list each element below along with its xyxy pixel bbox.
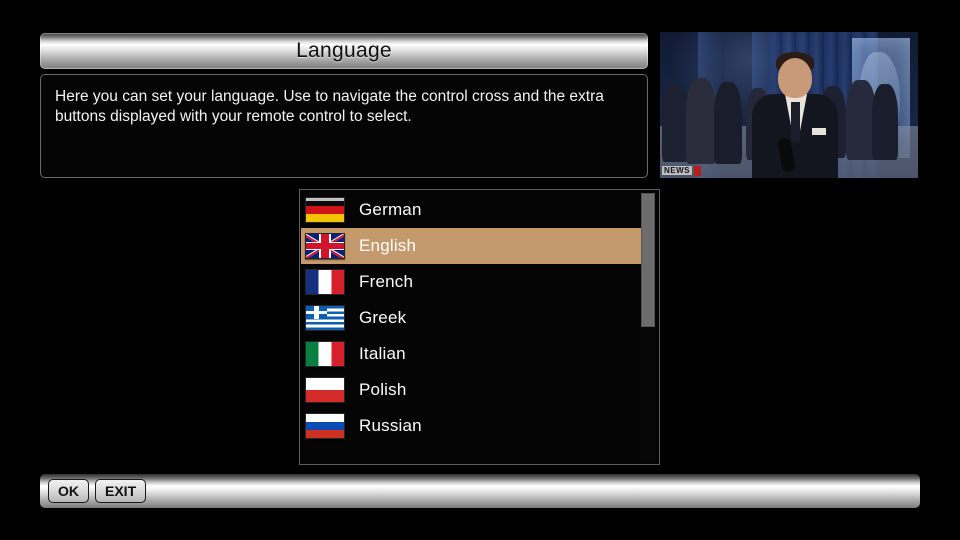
exit-button-label: EXIT	[105, 483, 136, 499]
video-reporter-pocket-square	[812, 128, 826, 135]
flag-france-icon	[305, 269, 345, 295]
list-item[interactable]: Russian	[301, 408, 643, 444]
video-crowd-figure	[686, 78, 716, 164]
list-item[interactable]: French	[301, 264, 643, 300]
language-list: German English French Greek	[301, 192, 643, 444]
list-item-label: Polish	[359, 380, 407, 400]
list-item[interactable]: Polish	[301, 372, 643, 408]
softkey-bar: OK EXIT	[40, 474, 920, 508]
flag-united-kingdom-icon	[305, 233, 345, 259]
list-item[interactable]: German	[301, 192, 643, 228]
list-item-selected[interactable]: English	[301, 228, 643, 264]
channel-logo-text: NEWS	[662, 166, 692, 175]
channel-logo: NEWS	[662, 165, 701, 176]
list-item-label: Italian	[359, 344, 406, 364]
page-title: Language	[296, 39, 392, 63]
flag-russia-icon	[305, 413, 345, 439]
exit-button[interactable]: EXIT	[95, 479, 146, 503]
ok-button-label: OK	[58, 483, 79, 499]
list-item-label: English	[359, 236, 416, 256]
video-preview[interactable]: NEWS	[660, 32, 918, 178]
video-crowd-figure	[662, 84, 688, 162]
description-text: Here you can set your language. Use to n…	[55, 87, 633, 127]
channel-logo-mark	[694, 166, 701, 176]
list-item[interactable]: Greek	[301, 300, 643, 336]
video-crowd-figure	[872, 84, 898, 160]
flag-greece-icon	[305, 305, 345, 331]
description-panel: Here you can set your language. Use to n…	[40, 74, 648, 178]
video-reporter-tie	[791, 102, 800, 142]
ok-button[interactable]: OK	[48, 479, 89, 503]
list-item-label: Russian	[359, 416, 422, 436]
video-reporter-head	[778, 58, 812, 98]
scrollbar-thumb[interactable]	[641, 193, 655, 327]
list-item[interactable]: Italian	[301, 336, 643, 372]
page-title-bar: Language	[40, 33, 648, 69]
tv-settings-screen: Language Here you can set your language.…	[0, 0, 960, 540]
language-list-panel: German English French Greek	[299, 189, 660, 465]
list-item-label: Greek	[359, 308, 406, 328]
list-item-label: French	[359, 272, 413, 292]
language-list-scrollbar[interactable]	[641, 193, 655, 461]
flag-germany-icon	[305, 197, 345, 223]
list-item-label: German	[359, 200, 422, 220]
flag-italy-icon	[305, 341, 345, 367]
flag-poland-icon	[305, 377, 345, 403]
video-crowd-figure	[714, 82, 742, 164]
